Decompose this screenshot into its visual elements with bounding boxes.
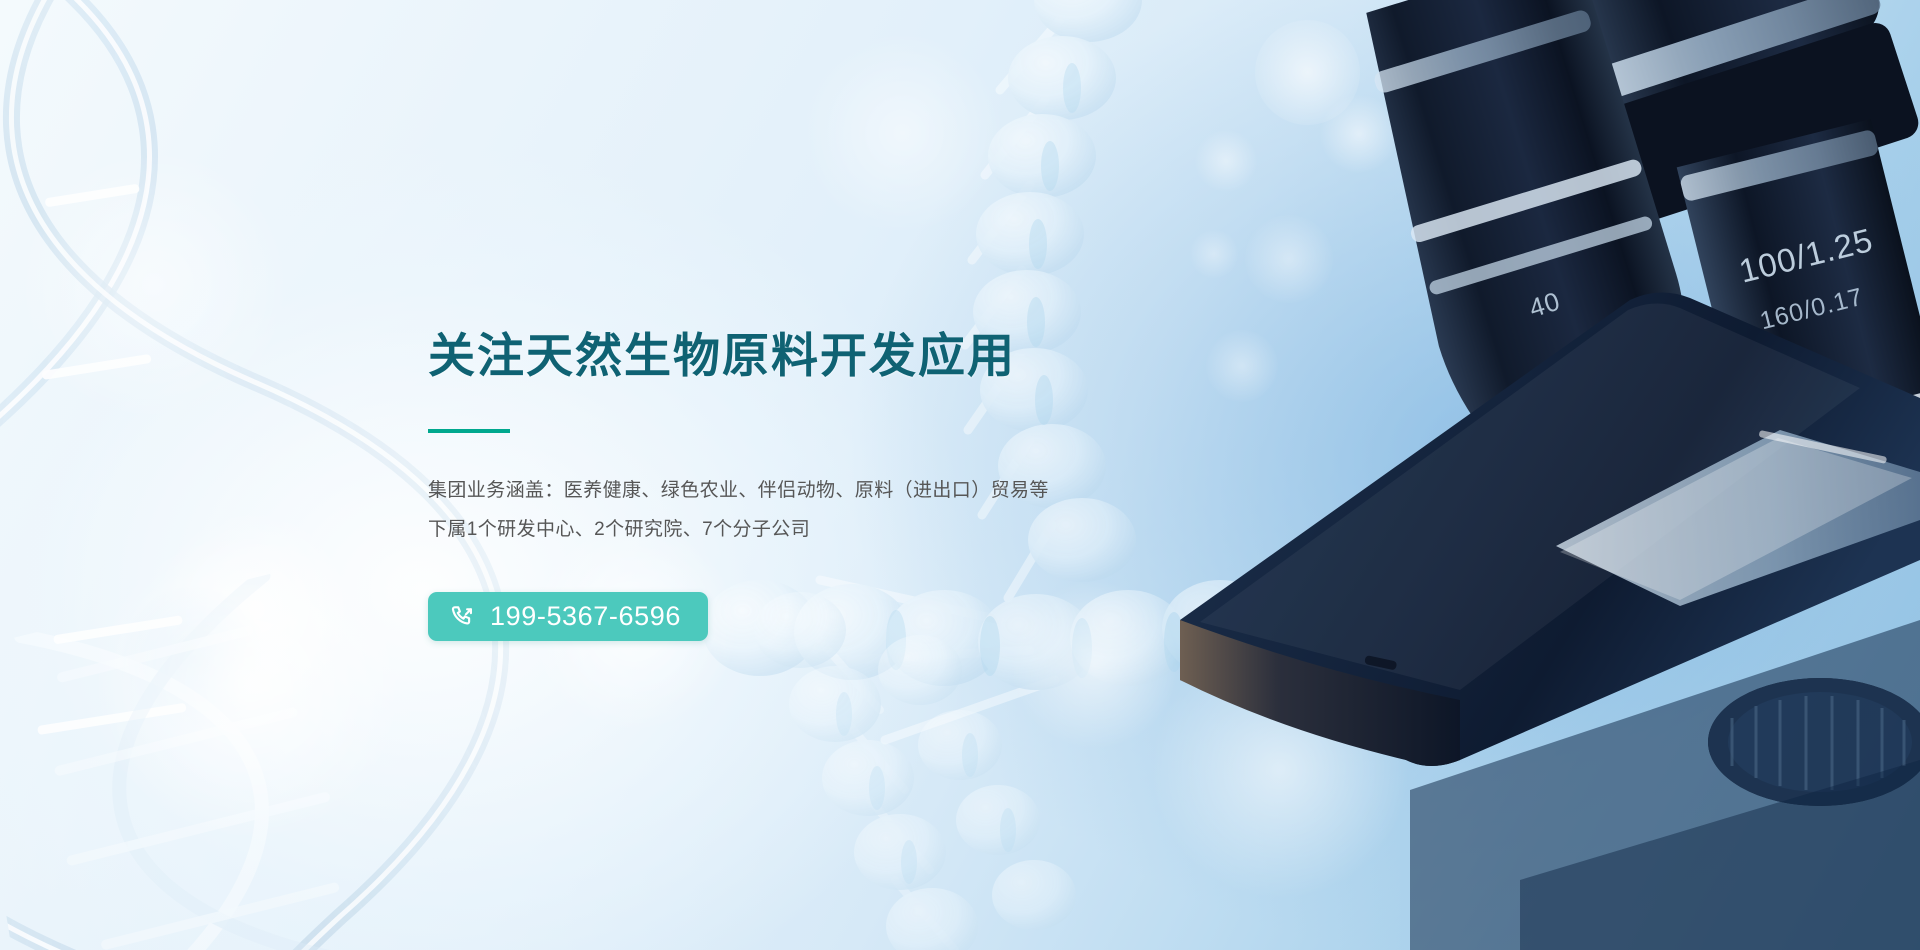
svg-text:160/0.17: 160/0.17 <box>1757 283 1866 336</box>
bokeh-circle <box>1195 130 1257 192</box>
phone-forwarded-icon <box>450 603 477 630</box>
bokeh-circle <box>1206 330 1278 402</box>
phone-number-label: 199-5367-6596 <box>490 603 681 630</box>
bokeh-circle <box>1320 95 1398 173</box>
hero-content: 关注天然生物原料开发应用 集团业务涵盖：医养健康、绿色农业、伴侣动物、原料（进出… <box>428 330 1188 641</box>
svg-text:100/1.25: 100/1.25 <box>1735 221 1876 290</box>
bokeh-circle <box>1190 230 1238 278</box>
microscope-graphic: 100/1.25 160/0.17 100 40 <box>1160 0 1920 950</box>
svg-text:100: 100 <box>1808 369 1856 406</box>
hero-banner: 100/1.25 160/0.17 100 40 <box>0 0 1920 950</box>
bokeh-circle <box>1245 215 1333 303</box>
description-line-1: 集团业务涵盖：医养健康、绿色农业、伴侣动物、原料（进出口）贸易等 <box>428 471 1188 511</box>
title-divider <box>428 429 510 433</box>
page-title: 关注天然生物原料开发应用 <box>428 330 1188 383</box>
bokeh-circle <box>150 505 360 715</box>
bokeh-circle <box>1150 640 1410 900</box>
svg-text:40: 40 <box>1526 286 1564 324</box>
description-line-2: 下属1个研发中心、2个研究院、7个分子公司 <box>428 510 1188 550</box>
bokeh-circle <box>1255 20 1360 125</box>
phone-cta-button[interactable]: 199-5367-6596 <box>428 592 708 641</box>
bokeh-circle <box>118 585 268 735</box>
hero-description: 集团业务涵盖：医养健康、绿色农业、伴侣动物、原料（进出口）贸易等 下属1个研发中… <box>428 471 1188 550</box>
